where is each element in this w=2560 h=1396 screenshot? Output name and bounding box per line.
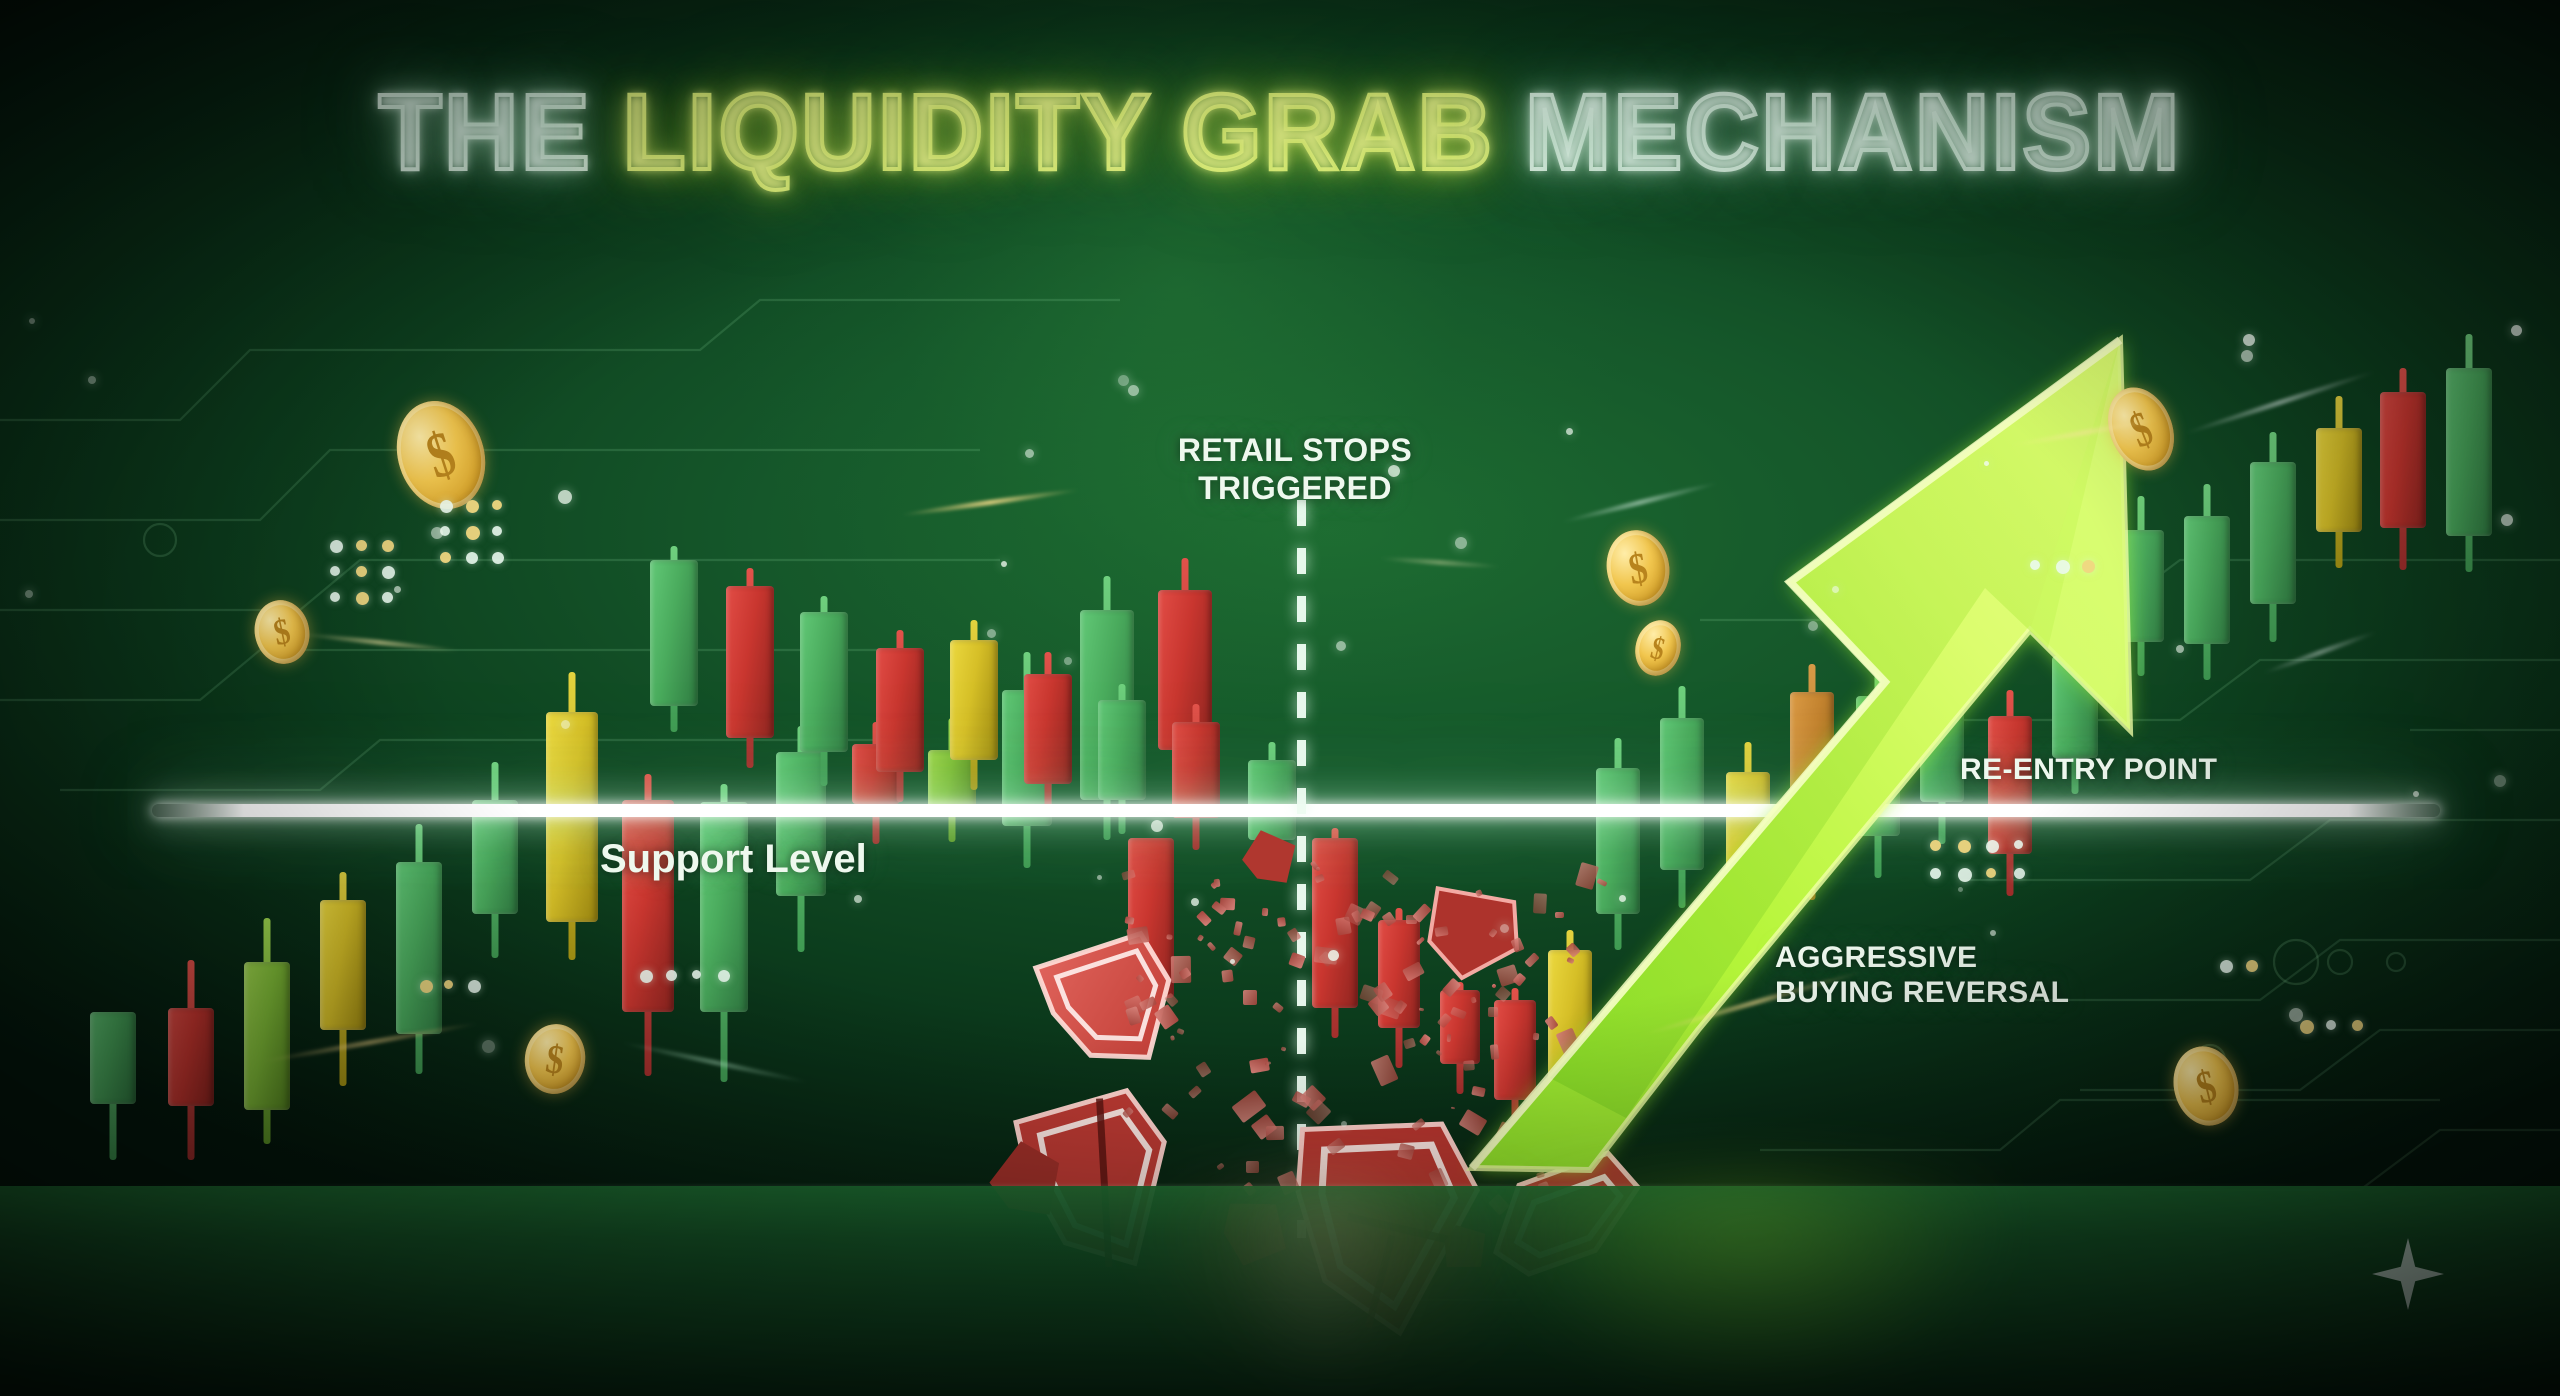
circuit-node-dot: [492, 552, 504, 564]
circuit-node-dot: [2326, 1020, 2336, 1030]
floating-particle: [88, 376, 96, 384]
circuit-node-dot: [2300, 1020, 2314, 1034]
circuit-node-dot: [2352, 1020, 2363, 1031]
circuit-node-dot: [492, 526, 502, 536]
floating-particle: [1128, 385, 1139, 396]
circuit-node-dot: [420, 980, 433, 993]
floating-particle: [394, 586, 401, 593]
circuit-node-dot: [2082, 560, 2095, 573]
floating-particle: [482, 1040, 495, 1053]
circuit-node-dot: [2220, 960, 2233, 973]
circuit-node-dot: [382, 592, 393, 603]
floating-particle: [1990, 930, 1996, 936]
floating-particle: [1455, 537, 1467, 549]
floating-particle: [1808, 621, 1818, 631]
circuit-node-dot: [440, 500, 453, 513]
floating-particle: [2243, 334, 2255, 346]
circuit-node-dot: [692, 970, 701, 979]
floating-particle: [2241, 350, 2253, 362]
floating-particle: [1001, 561, 1007, 567]
circuit-node-dot: [444, 980, 453, 989]
circuit-node-dot: [466, 526, 480, 540]
floating-particle: [1336, 641, 1346, 651]
circuit-node-dot: [2014, 840, 2023, 849]
floating-particle: [2413, 791, 2419, 797]
annotation-retail-stops: RETAIL STOPS TRIGGERED: [1165, 432, 1425, 508]
circuit-node-dot: [492, 500, 502, 510]
floating-particle: [1118, 375, 1129, 386]
floating-particle: [2494, 775, 2506, 787]
annotation-retail-stops-line2: TRIGGERED: [1165, 470, 1425, 508]
circuit-node-dot: [356, 566, 367, 577]
floating-particle: [1832, 586, 1839, 593]
circuit-node-dot: [466, 552, 478, 564]
circuit-node-dot: [440, 552, 451, 563]
circuit-node-dot: [356, 540, 367, 551]
annotation-aggressive-buying: AGGRESSIVE BUYING REVERSAL: [1775, 940, 2075, 1011]
circuit-node-dot: [1958, 840, 1971, 853]
floating-particle: [1025, 449, 1034, 458]
infographic-canvas: THE LIQUIDITY GRAB MECHANISM: [0, 0, 2560, 1396]
floating-particle: [2511, 325, 2522, 336]
floating-particle: [1230, 959, 1235, 964]
circuit-node-dot: [1958, 868, 1972, 882]
floating-particle: [558, 490, 572, 504]
floating-particle: [1328, 950, 1339, 961]
circuit-node-dot: [330, 566, 340, 576]
floating-particle: [854, 895, 862, 903]
floating-particle: [1984, 461, 1989, 466]
floating-particle: [1151, 820, 1163, 832]
circuit-node-dot: [1986, 868, 1996, 878]
circuit-node-dot: [382, 540, 394, 552]
circuit-node-dot: [640, 970, 653, 983]
circuit-node-dot: [1930, 868, 1941, 879]
floating-particle: [25, 590, 33, 598]
circuit-node-dot: [2056, 560, 2070, 574]
floating-particle: [431, 527, 443, 539]
circuit-node-dot: [382, 566, 395, 579]
floating-particle: [2501, 514, 2513, 526]
annotation-aggressive-line2: BUYING REVERSAL: [1775, 975, 2075, 1010]
circuit-node-dot: [666, 970, 677, 981]
annotation-aggressive-line1: AGGRESSIVE: [1775, 940, 2075, 975]
floating-particle: [2176, 645, 2184, 653]
floating-particle: [1064, 657, 1072, 665]
circuit-node-dot: [2014, 868, 2025, 879]
floating-particle: [561, 720, 570, 729]
circuit-node-dot: [330, 592, 340, 602]
annotation-support-level: Support Level: [600, 836, 867, 883]
floating-particle: [1566, 428, 1573, 435]
circuit-node-dot: [2246, 960, 2258, 972]
circuit-node-dot: [466, 500, 479, 513]
floating-particle: [1191, 898, 1199, 906]
floating-particle: [29, 318, 35, 324]
floating-particle: [2289, 1008, 2303, 1022]
circuit-node-dot: [468, 980, 481, 993]
floating-particle: [1958, 887, 1963, 892]
floating-particle: [1500, 924, 1509, 933]
floating-particle: [1619, 895, 1626, 902]
floating-particle: [1341, 1121, 1347, 1127]
circuit-node-dot: [330, 540, 343, 553]
floor-reflection-green: [1490, 1186, 2010, 1396]
circuit-node-dot: [356, 592, 369, 605]
annotation-retail-stops-line1: RETAIL STOPS: [1165, 432, 1425, 470]
circuit-node-dot: [1930, 840, 1941, 851]
floor-reflection-pale: [1230, 1186, 1410, 1396]
floating-particle: [987, 629, 996, 638]
circuit-node-dot: [2030, 560, 2040, 570]
floating-particle: [1097, 875, 1102, 880]
circuit-node-dot: [1986, 840, 1999, 853]
annotation-re-entry-point: RE-ENTRY POINT: [1960, 752, 2217, 787]
circuit-node-dot: [718, 970, 730, 982]
